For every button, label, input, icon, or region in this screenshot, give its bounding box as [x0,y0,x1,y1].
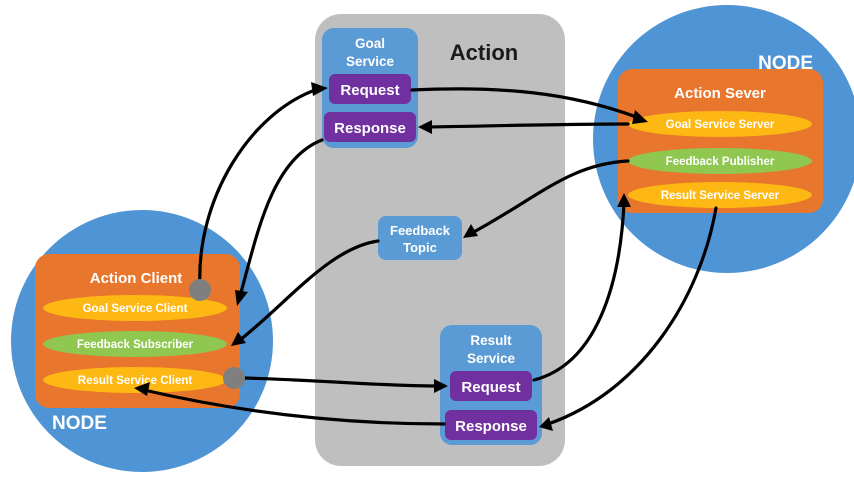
result-service-title-line2: Service [467,351,516,366]
action-group-title: Action [450,40,518,65]
feedback-topic-title-line1: Feedback [390,223,451,238]
pill-goal-service-client-label: Goal Service Client [83,303,188,315]
pill-result-service-client[interactable]: Result Service Client [43,367,227,393]
pill-feedback-publisher[interactable]: Feedback Publisher [628,148,812,174]
action-client-panel[interactable]: Action Client Goal Service Client Feedba… [35,254,240,408]
diagram-canvas: Action NODE NODE Action Sever Goal Servi… [0,0,854,480]
client-node-label: NODE [52,413,107,434]
feedback-topic-box[interactable]: Feedback Topic [378,216,462,260]
action-server-panel[interactable]: Action Sever Goal Service Server Feedbac… [618,69,823,213]
pill-feedback-subscriber[interactable]: Feedback Subscriber [43,331,227,357]
action-server-panel-title: Action Sever [674,85,766,102]
feedback-topic-title-line2: Topic [403,240,437,255]
goal-service-box[interactable]: Goal Service Request Response [322,28,418,148]
action-architecture-diagram: Action NODE NODE Action Sever Goal Servi… [0,0,854,480]
client-result-connector-dot [223,367,245,389]
action-client-panel-title: Action Client [90,270,183,287]
goal-service-request-box[interactable]: Request [329,74,411,104]
goal-service-response-box[interactable]: Response [324,112,416,142]
result-service-response-label: Response [455,418,527,435]
result-service-title-line1: Result [470,333,512,348]
result-service-request-label: Request [461,379,520,396]
pill-goal-service-server-label: Goal Service Server [666,119,775,131]
pill-goal-service-server[interactable]: Goal Service Server [628,111,812,137]
goal-service-request-label: Request [340,82,399,99]
pill-result-service-server-label: Result Service Server [661,190,780,202]
result-service-response-box[interactable]: Response [445,410,537,440]
pill-result-service-server[interactable]: Result Service Server [628,182,812,208]
goal-service-response-label: Response [334,120,406,137]
client-goal-connector-dot [189,279,211,301]
pill-feedback-publisher-label: Feedback Publisher [666,156,775,168]
result-service-request-box[interactable]: Request [450,371,532,401]
result-service-box[interactable]: Result Service Request Response [440,325,542,445]
goal-service-title-line1: Goal [355,36,385,51]
pill-feedback-subscriber-label: Feedback Subscriber [77,339,194,351]
goal-service-title-line2: Service [346,54,395,69]
pill-result-service-client-label: Result Service Client [78,375,193,387]
